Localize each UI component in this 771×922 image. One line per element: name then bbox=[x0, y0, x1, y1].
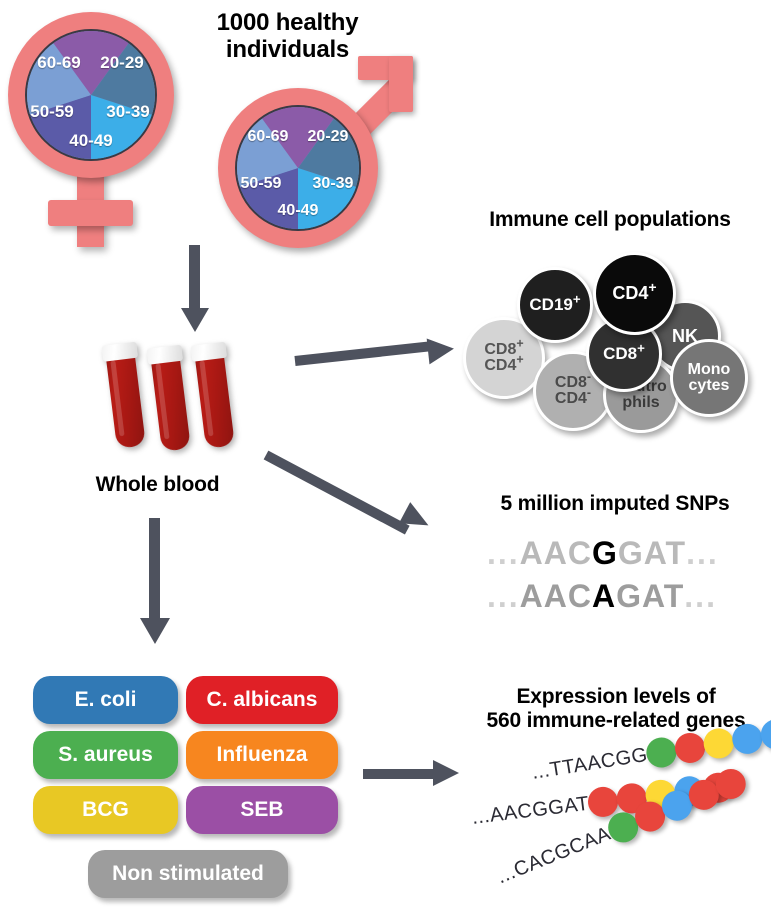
cell-label-line1: CD8- bbox=[555, 375, 591, 391]
snp-ellipsis-left: ... bbox=[487, 535, 520, 571]
cell-label: CD4+ bbox=[612, 284, 656, 302]
cell-label-line2: cytes bbox=[688, 378, 731, 394]
cell-label-line1: Mono bbox=[688, 362, 731, 378]
snp-bases-left: AAC bbox=[520, 535, 592, 571]
snp-sequence-allele-1: ...AACGGAT... bbox=[487, 535, 719, 572]
arrow-head-icon bbox=[181, 308, 209, 332]
arrow-head-icon bbox=[140, 618, 170, 644]
stimulus-label: BCG bbox=[82, 798, 129, 822]
pie-label-20-29: 20-29 bbox=[93, 53, 151, 73]
blood-tube bbox=[104, 342, 145, 449]
stimulus-label: SEB bbox=[240, 798, 283, 822]
pie-label-60-69: 60-69 bbox=[240, 128, 296, 146]
whole-blood-group bbox=[105, 335, 265, 490]
stimulus-label: Influenza bbox=[216, 743, 307, 767]
arrow-blood-to-snps bbox=[266, 440, 461, 550]
blood-tube bbox=[149, 345, 190, 452]
cell-label: CD8+ bbox=[603, 345, 645, 362]
pie-label-50-59: 50-59 bbox=[23, 102, 81, 122]
rna-bead bbox=[644, 735, 678, 769]
stimulus-box-influenza[interactable]: Influenza bbox=[186, 731, 338, 779]
female-gender-symbol: 20-29 30-39 40-49 50-59 60-69 bbox=[8, 12, 188, 247]
arrow-blood-to-immune bbox=[295, 335, 465, 377]
cell-label-line2: CD4- bbox=[555, 391, 591, 407]
stimulus-box-e-coli[interactable]: E. coli bbox=[33, 676, 178, 724]
stimulus-label: E. coli bbox=[75, 688, 137, 712]
pie-label-40-49: 40-49 bbox=[270, 202, 326, 220]
arrow-shaft bbox=[264, 451, 410, 535]
pie-label-40-49: 40-49 bbox=[62, 131, 120, 151]
pie-label-50-59: 50-59 bbox=[233, 175, 289, 193]
whole-blood-label: Whole blood bbox=[70, 473, 245, 497]
snps-title: 5 million imputed SNPs bbox=[470, 492, 760, 516]
stimulus-box-seb[interactable]: SEB bbox=[186, 786, 338, 834]
rna-strand-group: ...TTAACGG ...AACGGAT ...CACGCAA bbox=[460, 745, 771, 915]
arrow-blood-to-stimuli bbox=[138, 518, 172, 648]
arrow-head-icon bbox=[427, 336, 456, 365]
rna-sequence: ...AACGGAT bbox=[471, 792, 591, 829]
pie-label-30-39: 30-39 bbox=[99, 102, 157, 122]
expression-title-line1: Expression levels of bbox=[466, 685, 766, 709]
snp-sequence-allele-2: ...AACAGAT... bbox=[487, 578, 717, 615]
rna-bead bbox=[701, 726, 735, 760]
rna-bead bbox=[673, 731, 707, 765]
rna-sequence: ...CACGCAA bbox=[494, 822, 614, 888]
pie-label-60-69: 60-69 bbox=[30, 53, 88, 73]
snp-variant-base: G bbox=[592, 535, 618, 571]
stimulus-box-bcg[interactable]: BCG bbox=[33, 786, 178, 834]
snp-bases-right: GAT bbox=[616, 578, 684, 614]
male-gender-symbol: 20-29 30-39 40-49 50-59 60-69 bbox=[198, 58, 418, 248]
stimulus-box-non-stimulated[interactable]: Non stimulated bbox=[88, 850, 288, 898]
arrow-shaft bbox=[363, 769, 435, 779]
stimulus-label: S. aureus bbox=[58, 743, 153, 767]
stimulus-label: Non stimulated bbox=[112, 862, 264, 886]
cell-circle-monocytes: Mono cytes bbox=[670, 339, 748, 417]
page-title-line1: 1000 healthy bbox=[175, 10, 400, 37]
snp-bases-left: AAC bbox=[520, 578, 592, 614]
snp-variant-base: A bbox=[592, 578, 616, 614]
rna-bead bbox=[759, 717, 771, 751]
immune-cell-cluster: CD8+ CD4+ CD19+ CD4+ CD8- CD4- CD8+ NK N… bbox=[455, 243, 765, 423]
male-symbol-arrowhead-vert bbox=[389, 56, 413, 112]
cell-label: CD19+ bbox=[529, 296, 580, 313]
female-symbol-crossbar bbox=[48, 200, 133, 226]
stimulus-box-s-aureus[interactable]: S. aureus bbox=[33, 731, 178, 779]
blood-tube bbox=[193, 342, 234, 449]
cell-label-line2: phils bbox=[615, 395, 667, 411]
immune-cell-populations-title: Immune cell populations bbox=[455, 208, 765, 232]
rna-sequence: ...TTAACGG bbox=[530, 743, 649, 784]
pie-label-30-39: 30-39 bbox=[305, 175, 361, 193]
arrow-shaft bbox=[294, 341, 430, 366]
snp-bases-right: GAT bbox=[618, 535, 686, 571]
arrow-head-icon bbox=[433, 760, 459, 786]
snp-ellipsis-right: ... bbox=[686, 535, 719, 571]
rna-bead bbox=[730, 722, 764, 756]
arrow-cohort-to-blood bbox=[178, 245, 212, 333]
arrow-stimuli-to-expression bbox=[363, 757, 468, 791]
snp-ellipsis-left: ... bbox=[487, 578, 520, 614]
snp-ellipsis-right: ... bbox=[684, 578, 717, 614]
arrow-shaft bbox=[149, 518, 160, 621]
expression-title: Expression levels of 560 immune-related … bbox=[466, 685, 766, 732]
arrow-shaft bbox=[189, 245, 200, 311]
cell-label-line2: CD4+ bbox=[484, 358, 523, 374]
cell-circle-cd19: CD19+ bbox=[517, 267, 593, 343]
pie-label-20-29: 20-29 bbox=[300, 128, 356, 146]
cell-circle-cd4: CD4+ bbox=[593, 252, 676, 335]
stimulus-label: C. albicans bbox=[207, 688, 318, 712]
stimulus-box-c-albicans[interactable]: C. albicans bbox=[186, 676, 338, 724]
